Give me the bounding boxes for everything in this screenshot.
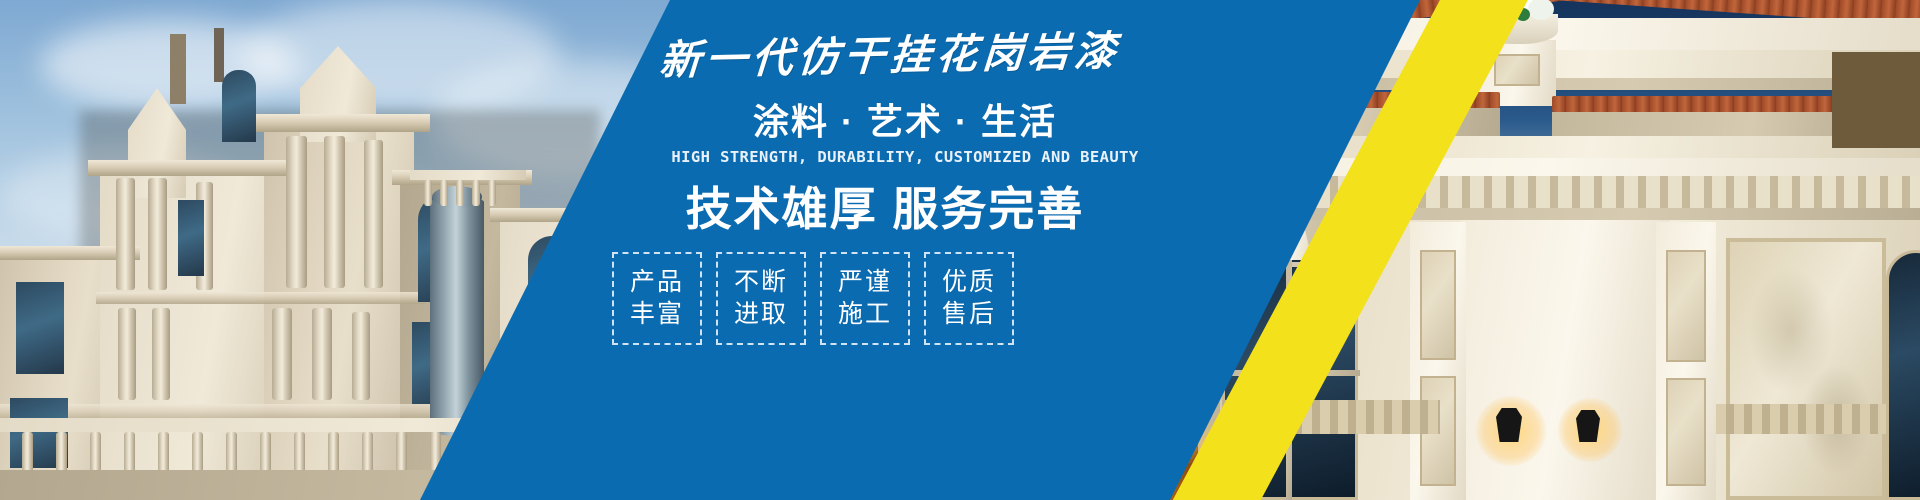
- feature-box-row: 产品 丰富 不断 进取 严谨 施工 优质 售后: [612, 252, 1014, 345]
- feature-box: 严谨 施工: [820, 252, 910, 345]
- feature-line-1: 不断: [732, 266, 790, 298]
- tagline-middle: 涂料 · 艺术 · 生活: [690, 104, 1120, 140]
- feature-box: 不断 进取: [716, 252, 806, 345]
- feature-line-2: 施工: [836, 298, 894, 330]
- headline-script: 新一代仿干挂花岗岩漆: [658, 32, 1091, 82]
- feature-line-2: 进取: [732, 298, 790, 330]
- promo-banner: 新一代仿干挂花岗岩漆 涂料 · 艺术 · 生活 HIGH STRENGTH, D…: [0, 0, 1920, 500]
- subtitle-english: HIGH STRENGTH, DURABILITY, CUSTOMIZED AN…: [640, 150, 1170, 166]
- feature-line-1: 产品: [628, 266, 686, 298]
- feature-line-2: 售后: [940, 298, 998, 330]
- feature-line-1: 严谨: [836, 266, 894, 298]
- tagline-primary: 技术雄厚 服务完善: [650, 186, 1120, 232]
- feature-line-1: 优质: [940, 266, 998, 298]
- feature-box: 优质 售后: [924, 252, 1014, 345]
- feature-line-2: 丰富: [628, 298, 686, 330]
- feature-box: 产品 丰富: [612, 252, 702, 345]
